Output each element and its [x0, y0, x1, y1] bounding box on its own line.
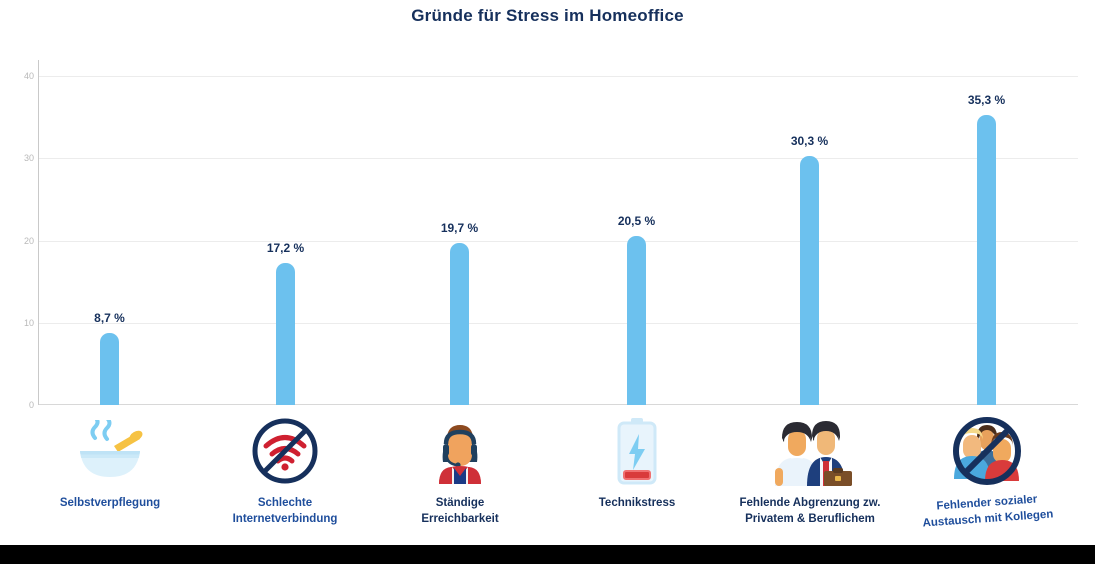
bar-4[interactable] [800, 156, 819, 405]
y-tick-label-20: 20 [0, 236, 34, 246]
two-people-work-life-icon [715, 412, 905, 490]
gridline-10 [39, 323, 1078, 324]
category-3[interactable]: Technikstress [542, 412, 732, 512]
bar-slot-3[interactable]: 20,5 % [627, 236, 646, 405]
no-wifi-icon [190, 412, 380, 490]
y-tick-label-30: 30 [0, 153, 34, 163]
category-0[interactable]: Selbstverpflegung [15, 412, 205, 512]
category-label-5: Fehlender sozialer Austausch mit Kollege… [921, 491, 1054, 531]
bar-value-label-3: 20,5 % [618, 214, 655, 228]
bar-slot-4[interactable]: 30,3 % [800, 156, 819, 405]
y-tick-label-10: 10 [0, 318, 34, 328]
bar-slot-1[interactable]: 17,2 % [276, 263, 295, 405]
gridline-40 [39, 76, 1078, 77]
bar-slot-2[interactable]: 19,7 % [450, 243, 469, 405]
x-axis-baseline [39, 404, 1078, 405]
bottom-band [0, 545, 1095, 564]
bar-value-label-4: 30,3 % [791, 134, 828, 148]
bar-3[interactable] [627, 236, 646, 405]
plot-area: 40 30 20 10 0 8,7 % 17,2 % 19,7 % 20,5 %… [38, 60, 1078, 405]
category-2[interactable]: Ständige Erreichbarkeit [365, 412, 555, 527]
bar-2[interactable] [450, 243, 469, 405]
category-label-4: Fehlende Abgrenzung zw. Privatem & Beruf… [715, 496, 905, 527]
gridline-20 [39, 241, 1078, 242]
y-tick-label-40: 40 [0, 71, 34, 81]
category-1[interactable]: Schlechte Internetverbindung [190, 412, 380, 527]
soup-bowl-icon [15, 412, 205, 490]
bar-slot-0[interactable]: 8,7 % [100, 333, 119, 405]
low-battery-icon [542, 412, 732, 490]
category-5[interactable]: Fehlender sozialer Austausch mit Kollege… [892, 412, 1082, 527]
bar-5[interactable] [977, 115, 996, 405]
bar-1[interactable] [276, 263, 295, 405]
bar-value-label-5: 35,3 % [968, 93, 1005, 107]
bar-value-label-0: 8,7 % [94, 311, 125, 325]
bar-0[interactable] [100, 333, 119, 405]
category-label-0: Selbstverpflegung [15, 496, 205, 512]
y-tick-label-0: 0 [0, 400, 34, 410]
no-social-group-icon [892, 412, 1082, 490]
bar-slot-5[interactable]: 35,3 % [977, 115, 996, 405]
category-4[interactable]: Fehlende Abgrenzung zw. Privatem & Beruf… [715, 412, 905, 527]
category-label-3: Technikstress [542, 496, 732, 512]
headset-person-icon [365, 412, 555, 490]
category-label-1: Schlechte Internetverbindung [190, 496, 380, 527]
bar-value-label-1: 17,2 % [267, 241, 304, 255]
gridline-30 [39, 158, 1078, 159]
chart-title: Gründe für Stress im Homeoffice [0, 6, 1095, 26]
bar-value-label-2: 19,7 % [441, 221, 478, 235]
category-label-2: Ständige Erreichbarkeit [365, 496, 555, 527]
chart-root: Gründe für Stress im Homeoffice 40 30 20… [0, 0, 1095, 564]
y-axis-line [38, 60, 39, 405]
